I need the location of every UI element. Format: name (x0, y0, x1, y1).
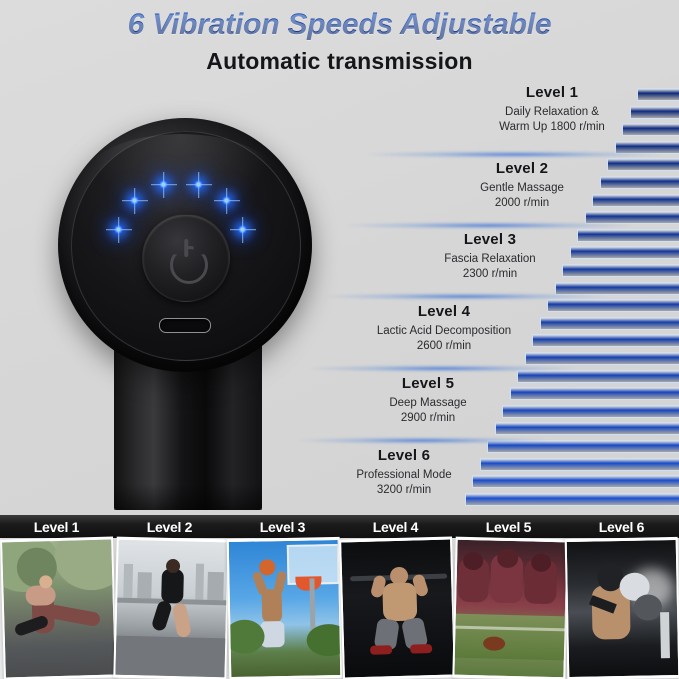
photo-level-6 (565, 537, 679, 679)
speed-bar (502, 405, 679, 418)
speed-bar (540, 317, 679, 330)
scene-basketball-dunk (229, 540, 341, 677)
scene-man-jogging (115, 540, 227, 678)
level-block-3: Level 3 Fascia Relaxation 2300 r/min (395, 231, 585, 282)
speed-bar (532, 334, 679, 347)
scene-gym-pullup (341, 540, 454, 678)
photo-strip (0, 538, 679, 679)
speed-bar (577, 229, 679, 242)
photo-strip-label-bar: Level 1Level 2Level 3Level 4Level 5Level… (0, 515, 679, 538)
scene-boxing (567, 540, 679, 677)
level-separator-2 (348, 222, 630, 229)
strip-label-5: Level 5 (452, 517, 565, 537)
photo-level-5 (452, 537, 568, 679)
level-desc-line2: Warm Up 1800 r/min (449, 120, 655, 135)
level-separator-3 (326, 293, 602, 300)
level-desc-line2: 2900 r/min (330, 411, 526, 426)
level-title: Level 6 (306, 447, 502, 464)
level-desc-line1: Fascia Relaxation (395, 252, 585, 267)
speed-bar (547, 299, 679, 312)
strip-label-1: Level 1 (0, 517, 113, 537)
photo-level-3 (227, 537, 343, 679)
scene-woman-stretching (2, 540, 115, 678)
level-desc-line1: Professional Mode (306, 468, 502, 483)
level-title: Level 2 (424, 160, 620, 177)
level-separator-5 (300, 437, 546, 444)
speed-bar (472, 475, 679, 488)
level-block-6: Level 6 Professional Mode 3200 r/min (306, 447, 502, 498)
level-block-1: Level 1 Daily Relaxation & Warm Up 1800 … (449, 84, 655, 135)
strip-label-6: Level 6 (565, 517, 678, 537)
level-desc-line1: Daily Relaxation & (449, 105, 655, 120)
level-desc-line1: Lactic Acid Decomposition (336, 324, 552, 339)
level-title: Level 1 (449, 84, 655, 101)
infographic-canvas: 6 Vibration Speeds Adjustable Automatic … (0, 0, 679, 679)
level-separator-1 (368, 151, 660, 158)
level-desc-line2: 2600 r/min (336, 339, 552, 354)
level-desc-line2: 2000 r/min (424, 196, 620, 211)
speed-bar (510, 387, 679, 400)
photo-level-2 (113, 537, 229, 679)
level-block-4: Level 4 Lactic Acid Decomposition 2600 r… (336, 303, 552, 354)
strip-label-4: Level 4 (339, 517, 452, 537)
speed-bar (570, 246, 679, 259)
strip-label-2: Level 2 (113, 517, 226, 537)
photo-level-4 (339, 536, 456, 679)
level-desc-line2: 3200 r/min (306, 483, 502, 498)
level-desc-line1: Deep Massage (330, 396, 526, 411)
level-block-2: Level 2 Gentle Massage 2000 r/min (424, 160, 620, 211)
speed-bar (480, 458, 679, 471)
level-title: Level 5 (330, 375, 526, 392)
level-desc-line1: Gentle Massage (424, 181, 620, 196)
level-title: Level 4 (336, 303, 552, 320)
strip-label-3: Level 3 (226, 517, 339, 537)
level-separator-4 (312, 365, 574, 372)
level-block-5: Level 5 Deep Massage 2900 r/min (330, 375, 526, 426)
level-desc-line2: 2300 r/min (395, 267, 585, 282)
scene-american-football (454, 540, 566, 678)
photo-level-1 (0, 536, 117, 679)
level-title: Level 3 (395, 231, 585, 248)
